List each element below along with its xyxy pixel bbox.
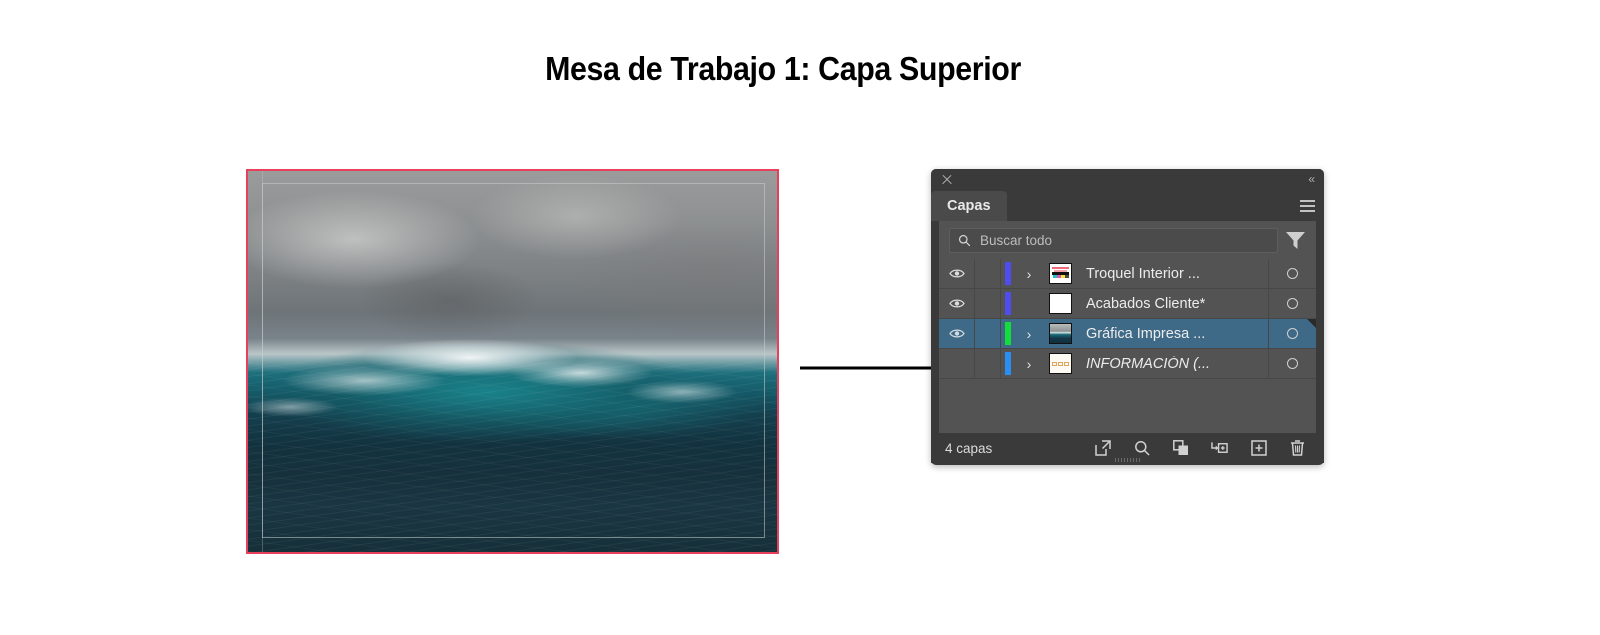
search-input[interactable]: Buscar todo [949,228,1278,253]
layers-panel: « Capas Buscar todo [931,169,1324,465]
release-to-layers-icon[interactable] [1094,440,1111,457]
layer-thumbnail [1043,323,1077,344]
tab-capas[interactable]: Capas [931,191,1007,221]
artboard-border [246,169,779,554]
footer-icon-group [992,440,1310,457]
lock-toggle[interactable] [975,319,1001,348]
search-row: Buscar todo [939,221,1316,259]
locate-object-icon[interactable] [1133,440,1150,457]
panel-tab-bar: Capas [931,191,1324,221]
search-icon [958,234,971,247]
layer-name[interactable]: INFORMACIÓN (... [1077,356,1268,372]
layer-color-swatch [1001,259,1015,288]
table-row[interactable]: › Gráfica Impresa ... [939,319,1316,349]
panel-resize-grip[interactable] [1115,458,1141,462]
expand-layer-icon[interactable]: › [1015,266,1043,282]
ocean-texture [248,362,777,553]
collapse-panel-icon[interactable]: « [1308,173,1314,185]
layer-list: › Troquel Interior ... [939,259,1316,433]
target-indicator-icon[interactable] [1287,358,1298,369]
layer-color-swatch [1001,349,1015,378]
filter-icon[interactable] [1278,232,1312,249]
layer-name[interactable]: Acabados Cliente* [1077,296,1268,312]
create-new-sublayer-icon[interactable] [1211,440,1228,457]
lock-toggle[interactable] [975,289,1001,318]
search-placeholder: Buscar todo [980,233,1052,248]
layer-count-label: 4 capas [945,441,992,456]
delete-selection-icon[interactable] [1289,440,1306,457]
hamburger-menu-icon[interactable] [1296,191,1324,221]
lock-toggle[interactable] [975,349,1001,378]
visibility-toggle-placeholder[interactable] [939,349,975,378]
lock-toggle[interactable] [975,259,1001,288]
panel-title-bar: « [931,169,1324,191]
guide-line-vertical [262,171,263,552]
create-new-layer-icon[interactable] [1250,440,1267,457]
layer-color-swatch [1001,319,1015,348]
target-column [1268,349,1316,378]
layer-thumbnail [1043,293,1077,314]
layer-thumbnail [1043,263,1077,284]
visibility-toggle-icon[interactable] [939,259,975,288]
layer-name[interactable]: Troquel Interior ... [1077,266,1268,282]
expand-layer-icon[interactable]: › [1015,356,1043,372]
tab-bar-filler [1007,191,1296,221]
expand-layer-icon[interactable]: › [1015,326,1043,342]
layer-thumbnail [1043,353,1077,374]
target-column [1268,289,1316,318]
target-indicator-icon[interactable] [1287,268,1298,279]
table-row[interactable]: › INFORMACIÓN (... [939,349,1316,379]
table-row[interactable]: Acabados Cliente* [939,289,1316,319]
visibility-toggle-icon[interactable] [939,319,975,348]
layer-color-swatch [1001,289,1015,318]
panel-body: Buscar todo [939,221,1316,433]
ocean-photo [248,171,777,552]
screen-root: Mesa de Trabajo 1: Capa Superior « Capas [0,0,1600,635]
table-row[interactable]: › Troquel Interior ... [939,259,1316,289]
make-sublayer-icon[interactable] [1172,440,1189,457]
target-indicator-icon[interactable] [1287,298,1298,309]
close-icon[interactable] [941,174,953,186]
visibility-toggle-icon[interactable] [939,289,975,318]
layer-name[interactable]: Gráfica Impresa ... [1077,326,1268,342]
target-indicator-icon[interactable] [1287,328,1298,339]
target-column [1268,259,1316,288]
artboard-preview[interactable] [246,169,779,554]
page-title: Mesa de Trabajo 1: Capa Superior [63,50,1504,88]
selected-row-corner [1307,319,1316,328]
